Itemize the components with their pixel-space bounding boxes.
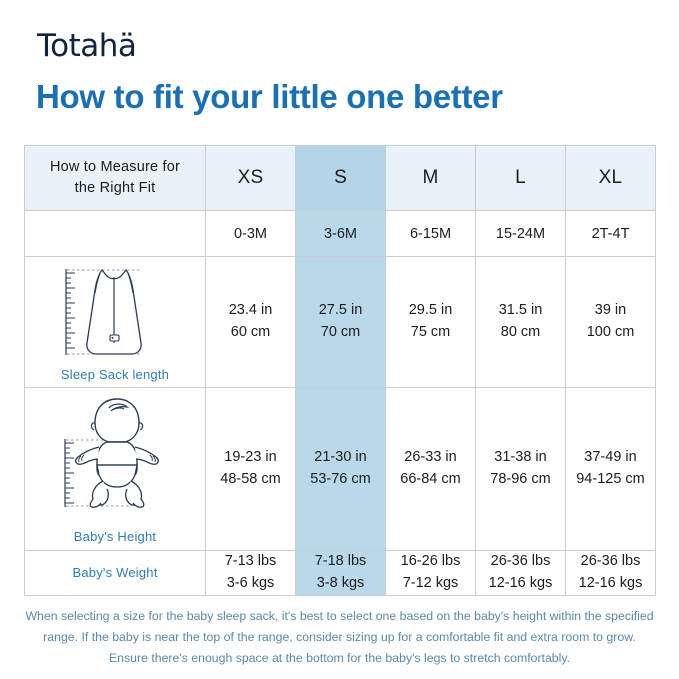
value-metric: 12-16 kgs [476, 573, 565, 595]
size-header-xs[interactable]: XS [206, 146, 296, 211]
value-metric: 12-16 kgs [566, 573, 655, 595]
value-metric: 94-125 cm [566, 469, 655, 491]
size-chart-table: How to Measure forthe Right Fit XS S M L… [24, 145, 656, 596]
table-header-row: How to Measure forthe Right Fit XS S M L… [25, 146, 656, 211]
size-chart-page: Totahä How to fit your little one better… [0, 0, 679, 679]
value-imperial: 26-36 lbs [476, 551, 565, 573]
size-header-m[interactable]: M [386, 146, 476, 211]
value-imperial: 39 in [566, 300, 655, 322]
baby-weight-label: Baby's Weight [72, 565, 157, 580]
value-metric: 75 cm [386, 322, 475, 344]
baby-weight-l: 26-36 lbs 12-16 kgs [476, 551, 566, 596]
value-metric: 78-96 cm [476, 469, 565, 491]
value-imperial: 23.4 in [206, 300, 295, 322]
value-metric: 60 cm [206, 322, 295, 344]
value-imperial: 7-13 lbs [206, 551, 295, 573]
sizing-footnote: When selecting a size for the baby sleep… [24, 606, 655, 669]
brand-logo: Totahä [37, 28, 136, 64]
value-metric: 80 cm [476, 322, 565, 344]
age-xs: 0-3M [206, 211, 296, 257]
value-imperial: 16-26 lbs [386, 551, 475, 573]
value-imperial: 19-23 in [206, 447, 295, 469]
value-metric: 53-76 cm [296, 469, 385, 491]
sleep-sack-length-s: 27.5 in 70 cm [296, 257, 386, 388]
baby-height-s: 21-30 in 53-76 cm [296, 388, 386, 551]
value-imperial: 7-18 lbs [296, 551, 385, 573]
sleep-sack-length-m: 29.5 in 75 cm [386, 257, 476, 388]
value-imperial: 31.5 in [476, 300, 565, 322]
baby-height-xl: 37-49 in 94-125 cm [566, 388, 656, 551]
value-imperial: 27.5 in [296, 300, 385, 322]
baby-weight-s: 7-18 lbs 3-8 kgs [296, 551, 386, 596]
value-metric: 3-8 kgs [296, 573, 385, 595]
value-metric: 100 cm [566, 322, 655, 344]
value-imperial: 37-49 in [566, 447, 655, 469]
size-header-l[interactable]: L [476, 146, 566, 211]
sleep-sack-label: Sleep Sack length [61, 367, 169, 382]
value-imperial: 31-38 in [476, 447, 565, 469]
sleep-sack-illustration-cell: Sleep Sack length [25, 257, 206, 388]
value-imperial: 21-30 in [296, 447, 385, 469]
age-row-label [25, 211, 206, 257]
sleep-sack-length-l: 31.5 in 80 cm [476, 257, 566, 388]
table-row-baby-height: Baby's Height 19-23 in 48-58 cm 21-30 in… [25, 388, 656, 551]
page-title: How to fit your little one better [36, 78, 503, 116]
value-imperial: 29.5 in [386, 300, 475, 322]
value-metric: 70 cm [296, 322, 385, 344]
age-s: 3-6M [296, 211, 386, 257]
baby-weight-label-cell: Baby's Weight [25, 551, 206, 596]
sleep-sack-icon [40, 263, 190, 365]
measure-column-header: How to Measure forthe Right Fit [25, 146, 206, 211]
value-metric: 66-84 cm [386, 469, 475, 491]
age-l: 15-24M [476, 211, 566, 257]
value-metric: 3-6 kgs [206, 573, 295, 595]
table-row-baby-weight: Baby's Weight 7-13 lbs 3-6 kgs 7-18 lbs … [25, 551, 656, 596]
sleep-sack-length-xs: 23.4 in 60 cm [206, 257, 296, 388]
size-header-s[interactable]: S [296, 146, 386, 211]
baby-illustration-cell: Baby's Height [25, 388, 206, 551]
size-header-xl[interactable]: XL [566, 146, 656, 211]
baby-height-xs: 19-23 in 48-58 cm [206, 388, 296, 551]
value-metric: 48-58 cm [206, 469, 295, 491]
baby-icon [35, 395, 195, 527]
baby-height-m: 26-33 in 66-84 cm [386, 388, 476, 551]
value-imperial: 26-36 lbs [566, 551, 655, 573]
baby-height-label: Baby's Height [74, 529, 156, 544]
baby-weight-m: 16-26 lbs 7-12 kgs [386, 551, 476, 596]
value-metric: 7-12 kgs [386, 573, 475, 595]
baby-weight-xs: 7-13 lbs 3-6 kgs [206, 551, 296, 596]
baby-height-l: 31-38 in 78-96 cm [476, 388, 566, 551]
age-xl: 2T-4T [566, 211, 656, 257]
sleep-sack-length-xl: 39 in 100 cm [566, 257, 656, 388]
age-m: 6-15M [386, 211, 476, 257]
value-imperial: 26-33 in [386, 447, 475, 469]
table-row-age: 0-3M 3-6M 6-15M 15-24M 2T-4T [25, 211, 656, 257]
baby-weight-xl: 26-36 lbs 12-16 kgs [566, 551, 656, 596]
table-row-sleep-sack-length: Sleep Sack length 23.4 in 60 cm 27.5 in … [25, 257, 656, 388]
